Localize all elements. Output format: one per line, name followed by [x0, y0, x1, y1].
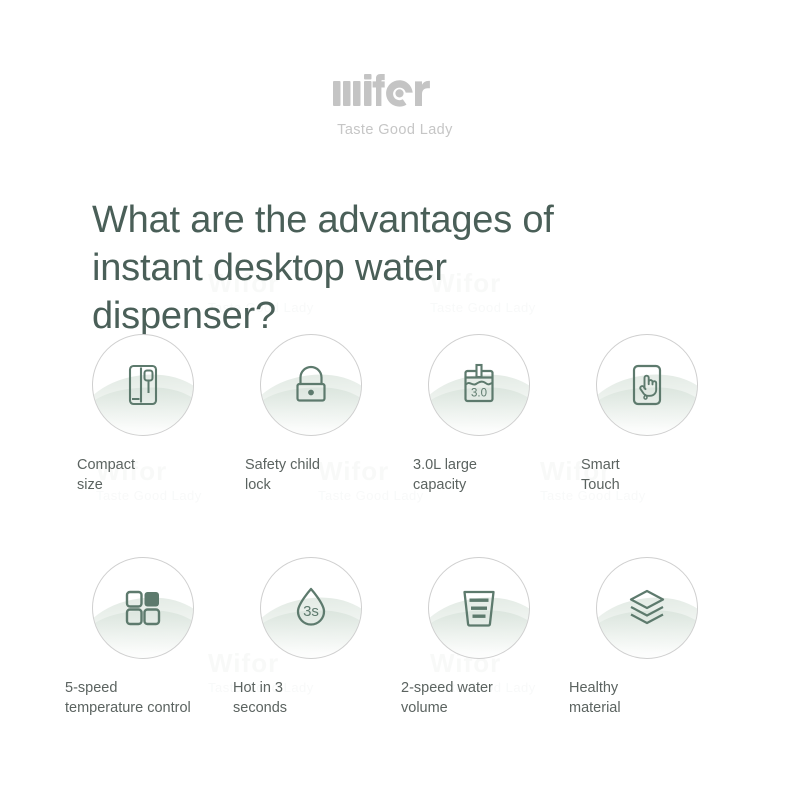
feature-icon-circle — [92, 334, 194, 436]
feature-item-hot-in-3-seconds[interactable]: 3s Hot in 3 seconds — [227, 557, 395, 718]
feature-label: Smart Touch — [563, 456, 731, 495]
feature-icon-circle — [92, 557, 194, 659]
feature-row-2: 5-speed temperature control 3s Hot in 3 … — [59, 557, 731, 718]
feature-item-capacity[interactable]: 3.0 3.0L large capacity — [395, 334, 563, 495]
feature-label: Hot in 3 seconds — [227, 679, 395, 718]
feature-icon-circle — [428, 557, 530, 659]
feature-icon-circle: 3.0 — [428, 334, 530, 436]
feature-label: 2-speed water volume — [395, 679, 563, 718]
feature-icon-circle — [596, 334, 698, 436]
four-squares-icon — [116, 581, 170, 635]
water-dispenser-icon — [116, 358, 170, 412]
droplet-time-value: 3s — [303, 603, 319, 620]
water-tank-icon: 3.0 — [452, 358, 506, 412]
feature-item-water-volume[interactable]: 2-speed water volume — [395, 557, 563, 718]
feature-item-temperature-control[interactable]: 5-speed temperature control — [59, 557, 227, 718]
cup-levels-icon — [452, 581, 506, 635]
padlock-icon — [284, 358, 338, 412]
feature-item-safety-child-lock[interactable]: Safety child lock — [227, 334, 395, 495]
feature-icon-circle: 3s — [260, 557, 362, 659]
feature-row-1: Compact size Safety child lock — [59, 334, 731, 495]
feature-icon-circle — [260, 334, 362, 436]
feature-grid: Compact size Safety child lock — [0, 334, 790, 718]
brand-logo: Taste Good Lady — [0, 74, 790, 138]
tank-capacity-value: 3.0 — [471, 388, 487, 400]
feature-label: 5-speed temperature control — [59, 679, 227, 718]
feature-item-smart-touch[interactable]: Smart Touch — [563, 334, 731, 495]
feature-item-compact-size[interactable]: Compact size — [59, 334, 227, 495]
feature-label: 3.0L large capacity — [395, 456, 563, 495]
feature-label: Compact size — [59, 456, 227, 495]
touch-panel-hand-icon — [620, 358, 674, 412]
feature-item-healthy-material[interactable]: Healthy material — [563, 557, 731, 718]
stacked-layers-icon — [620, 581, 674, 635]
page-title: What are the advantages of instant deskt… — [92, 197, 622, 341]
feature-label: Healthy material — [563, 679, 731, 718]
wifor-logo-icon — [333, 74, 457, 110]
feature-label: Safety child lock — [227, 456, 395, 495]
brand-tagline: Taste Good Lady — [0, 122, 790, 138]
water-droplet-icon: 3s — [284, 581, 338, 635]
feature-icon-circle — [596, 557, 698, 659]
